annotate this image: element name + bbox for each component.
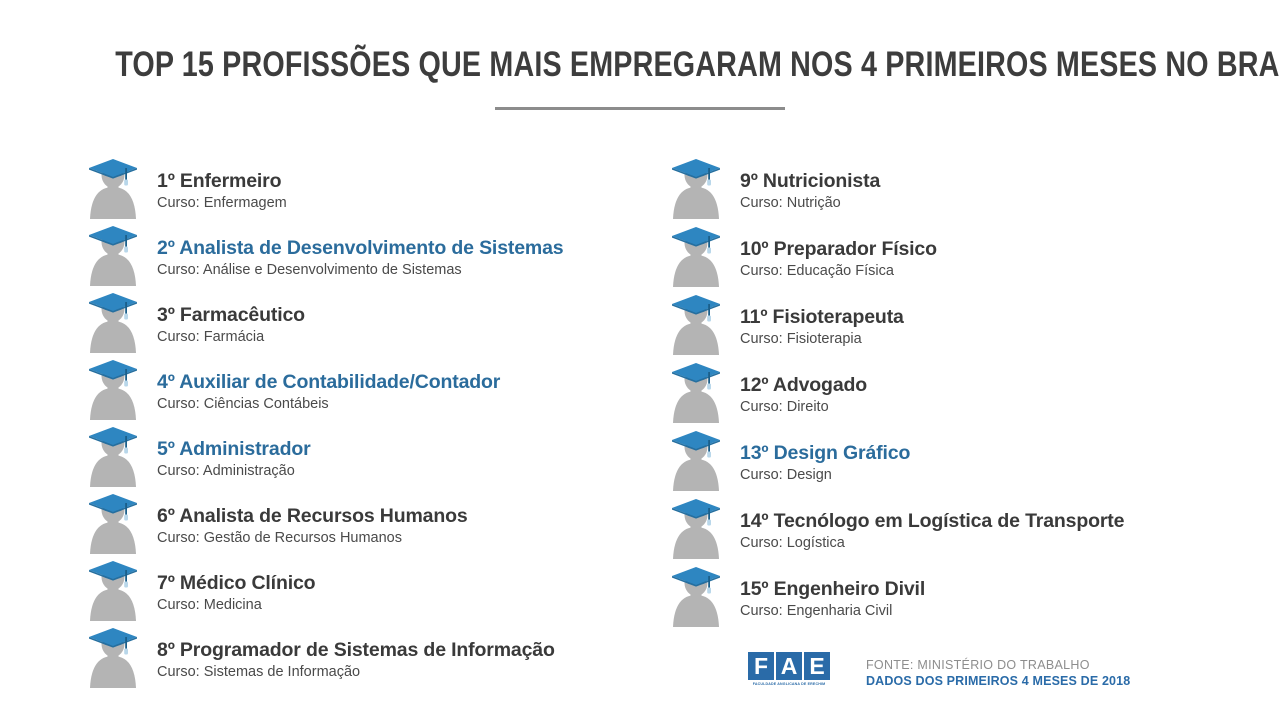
profession-entry: 7º Médico ClínicoCurso: Medicina — [85, 557, 655, 624]
graduate-icon — [85, 559, 141, 623]
profession-column-right: 9º NutricionistaCurso: Nutrição10º Prepa… — [668, 155, 1243, 631]
profession-column-left: 1º EnfermeiroCurso: Enfermagem2º Analist… — [85, 155, 655, 691]
profession-entry: 14º Tecnólogo em Logística de Transporte… — [668, 495, 1243, 563]
profession-title: 10º Preparador Físico — [740, 223, 1243, 261]
profession-entry: 8º Programador de Sistemas de Informação… — [85, 624, 655, 691]
graduate-icon — [85, 425, 141, 489]
profession-entry: 11º FisioterapeutaCurso: Fisioterapia — [668, 291, 1243, 359]
graduate-icon — [85, 626, 141, 690]
profession-course: Curso: Enfermagem — [157, 193, 655, 213]
graduate-icon — [85, 358, 141, 422]
profession-title: 12º Advogado — [740, 359, 1243, 397]
fae-logo: F A E FACULDADE ANGLICANA DE ERECHIM — [748, 652, 830, 686]
profession-title: 14º Tecnólogo em Logística de Transporte — [740, 495, 1243, 533]
graduate-icon — [668, 497, 724, 561]
profession-course: Curso: Fisioterapia — [740, 329, 1243, 349]
profession-course: Curso: Logística — [740, 533, 1243, 553]
profession-title: 5º Administrador — [157, 423, 655, 461]
profession-title: 7º Médico Clínico — [157, 557, 655, 595]
profession-course: Curso: Design — [740, 465, 1243, 485]
profession-course: Curso: Farmácia — [157, 327, 655, 347]
profession-course: Curso: Direito — [740, 397, 1243, 417]
graduate-icon — [85, 157, 141, 221]
profession-course: Curso: Ciências Contábeis — [157, 394, 655, 414]
profession-course: Curso: Gestão de Recursos Humanos — [157, 528, 655, 548]
profession-entry: 13º Design GráficoCurso: Design — [668, 427, 1243, 495]
profession-course: Curso: Medicina — [157, 595, 655, 615]
footer: F A E FACULDADE ANGLICANA DE ERECHIM FON… — [748, 652, 1130, 689]
profession-course: Curso: Sistemas de Informação — [157, 662, 655, 682]
profession-title: 3º Farmacêutico — [157, 289, 655, 327]
profession-entry: 1º EnfermeiroCurso: Enfermagem — [85, 155, 655, 222]
graduate-icon — [668, 429, 724, 493]
profession-title: 1º Enfermeiro — [157, 155, 655, 193]
profession-title: 9º Nutricionista — [740, 155, 1243, 193]
profession-entry: 4º Auxiliar de Contabilidade/ContadorCur… — [85, 356, 655, 423]
profession-entry: 3º FarmacêuticoCurso: Farmácia — [85, 289, 655, 356]
profession-title: 4º Auxiliar de Contabilidade/Contador — [157, 356, 655, 394]
profession-course: Curso: Educação Física — [740, 261, 1243, 281]
profession-entry: 5º AdministradorCurso: Administração — [85, 423, 655, 490]
profession-course: Curso: Administração — [157, 461, 655, 481]
graduate-icon — [85, 224, 141, 288]
profession-course: Curso: Nutrição — [740, 193, 1243, 213]
graduate-icon — [85, 291, 141, 355]
fae-logo-letter-a: A — [776, 652, 802, 680]
profession-title: 6º Analista de Recursos Humanos — [157, 490, 655, 528]
graduate-icon — [668, 565, 724, 629]
fae-logo-boxes: F A E — [748, 652, 830, 680]
profession-course: Curso: Engenharia Civil — [740, 601, 1243, 621]
fae-logo-letter-e: E — [804, 652, 830, 680]
profession-title: 11º Fisioterapeuta — [740, 291, 1243, 329]
profession-course: Curso: Análise e Desenvolvimento de Sist… — [157, 260, 655, 280]
graduate-icon — [668, 225, 724, 289]
source-credit: FONTE: MINISTÉRIO DO TRABALHO DADOS DOS … — [866, 652, 1130, 689]
source-period-label: DADOS DOS PRIMEIROS 4 MESES DE 2018 — [866, 673, 1130, 689]
fae-logo-letter-f: F — [748, 652, 774, 680]
fae-logo-subtitle: FACULDADE ANGLICANA DE ERECHIM — [748, 682, 830, 686]
profession-entry: 6º Analista de Recursos HumanosCurso: Ge… — [85, 490, 655, 557]
profession-title: 2º Analista de Desenvolvimento de Sistem… — [157, 222, 655, 260]
profession-title: 8º Programador de Sistemas de Informação — [157, 624, 655, 662]
profession-entry: 10º Preparador FísicoCurso: Educação Fís… — [668, 223, 1243, 291]
profession-entry: 9º NutricionistaCurso: Nutrição — [668, 155, 1243, 223]
title-divider — [495, 107, 785, 110]
profession-entry: 2º Analista de Desenvolvimento de Sistem… — [85, 222, 655, 289]
profession-title: 15º Engenheiro Divil — [740, 563, 1243, 601]
profession-entry: 12º AdvogadoCurso: Direito — [668, 359, 1243, 427]
profession-entry: 15º Engenheiro DivilCurso: Engenharia Ci… — [668, 563, 1243, 631]
graduate-icon — [668, 361, 724, 425]
title-block: TOP 15 PROFISSÕES QUE MAIS EMPREGARAM NO… — [0, 0, 1280, 110]
graduate-icon — [85, 492, 141, 556]
page-title: TOP 15 PROFISSÕES QUE MAIS EMPREGARAM NO… — [115, 47, 1165, 82]
profession-title: 13º Design Gráfico — [740, 427, 1243, 465]
graduate-icon — [668, 293, 724, 357]
graduate-icon — [668, 157, 724, 221]
source-ministry-label: FONTE: MINISTÉRIO DO TRABALHO — [866, 657, 1130, 673]
